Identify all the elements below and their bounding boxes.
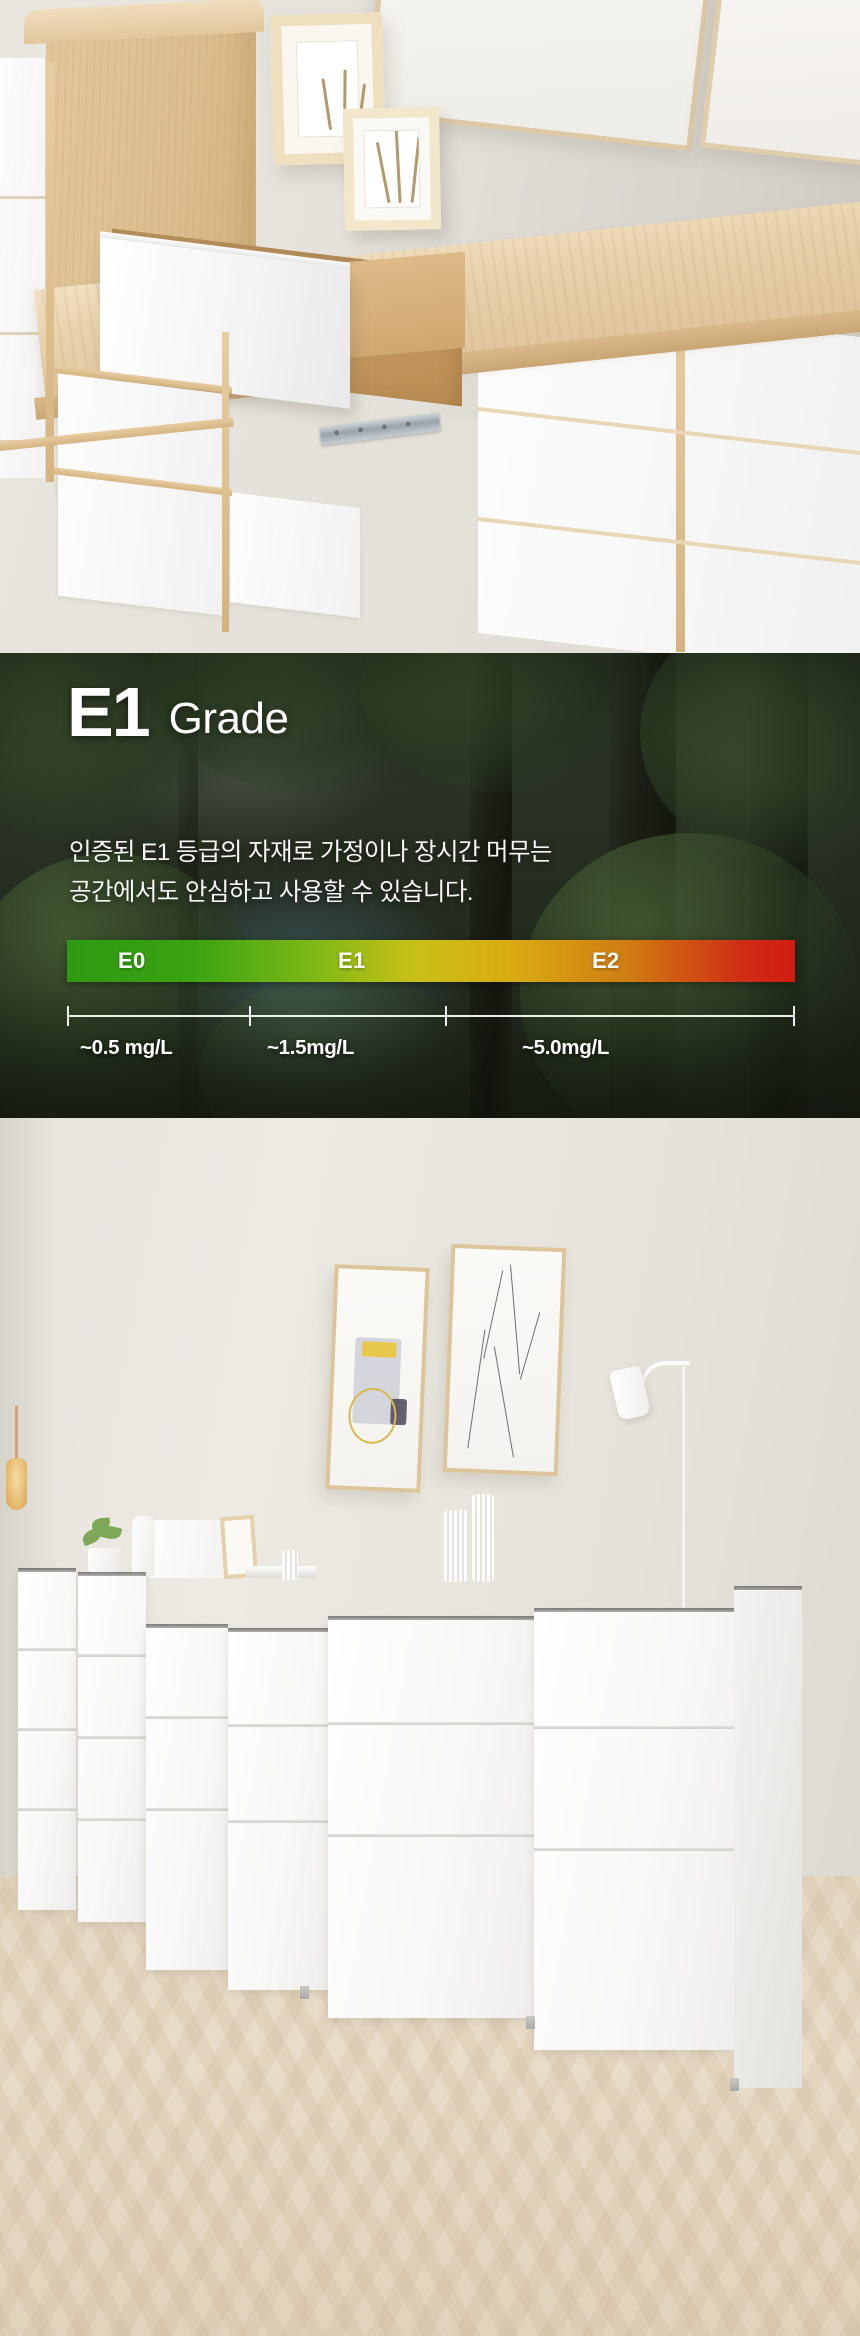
cabinet-unit [534,1610,734,2050]
dried-sprig [395,130,402,203]
dried-sprig [321,78,332,130]
white-drawer-front [58,476,228,617]
axis-line [67,1015,795,1017]
cabinet-drawer-seam [228,1820,328,1823]
grade-heading: E1 Grade [67,680,288,744]
scale-label-e2: E2 [592,948,620,974]
dried-sprig [376,142,391,203]
grade-heading-sub: Grade [169,697,289,744]
cabinet-wood-post [676,312,685,652]
product-photo-bottom [0,1118,860,2336]
axis-tick [67,1006,69,1026]
grade-description-line-2: 공간에서도 안심하고 사용할 수 있습니다. [69,873,689,913]
axis-label-e2-value: ~5.0mg/L [522,1036,609,1060]
cabinet-top-edge [18,1568,76,1572]
product-detail-page: E1 Grade 인증된 E1 등급의 자재로 가정이나 장시간 머무는 공간에… [0,0,860,2336]
cabinet-drawer-seam [18,1728,76,1731]
white-drawer-front [230,492,360,618]
cabinet-top-edge [328,1616,534,1620]
cabinet-drawer-seam [78,1654,146,1657]
emission-axis [67,1006,795,1030]
dried-sprig [411,137,421,203]
grade-description-line-1: 인증된 E1 등급의 자재로 가정이나 장시간 머무는 [69,833,689,873]
grade-heading-main: E1 [67,680,149,744]
frame-mat [363,130,420,209]
cabinet-drawer-seam [78,1736,146,1739]
cabinet-unit [228,1630,328,1990]
cabinet-drawer-seam [78,1818,146,1821]
emission-scale: E0 E1 E2 ~0.5 mg/L ~1.5mg/L ~5.0mg/L [67,940,795,1066]
cabinet-drawer-seam [146,1808,228,1811]
cabinet-side-panel [734,1588,802,2088]
cabinet-drawer-seam [18,1648,76,1651]
cabinet-unit [146,1626,228,1970]
axis-tick [445,1006,447,1026]
cabinet-top-edge [734,1586,802,1590]
cabinet-drawer-seam [328,1834,534,1837]
cabinet-foot [300,1986,309,1999]
axis-tick [249,1006,251,1026]
white-drawer-cabinets [0,1118,860,2336]
cabinet-foot [526,2016,535,2029]
scale-label-e1: E1 [338,948,366,974]
emission-axis-labels: ~0.5 mg/L ~1.5mg/L ~5.0mg/L [67,1036,795,1066]
cabinet-drawer-seam [328,1722,534,1725]
cabinet-top-edge [146,1624,228,1628]
cabinet-unit [328,1618,534,2018]
product-photo-top [0,0,860,653]
wall-art-frame-secondary [700,0,860,172]
cabinet-wood-post [222,332,229,632]
cabinet-top-edge [78,1572,146,1576]
cabinet-drawer-seam [534,1848,734,1851]
emission-gradient-bar: E0 E1 E2 [67,940,795,982]
grade-description: 인증된 E1 등급의 자재로 가정이나 장시간 머무는 공간에서도 안심하고 사… [69,833,689,912]
cabinet-drawer-seam [228,1724,328,1727]
axis-label-e1-value: ~1.5mg/L [267,1036,354,1060]
cabinet-drawer-seam [18,1808,76,1811]
cabinet-drawer-seam [146,1716,228,1719]
cabinet-top-edge [534,1608,734,1612]
axis-tick [793,1006,795,1026]
axis-label-e0-value: ~0.5 mg/L [80,1036,172,1060]
cabinet-top-edge [228,1628,328,1632]
e1-grade-banner: E1 Grade 인증된 E1 등급의 자재로 가정이나 장시간 머무는 공간에… [0,653,860,1118]
cabinet-unit [18,1570,76,1910]
cabinet-unit [78,1574,146,1922]
cabinet-drawer-seam [534,1726,734,1729]
scale-label-e0: E0 [118,948,146,974]
cabinet-seam [0,196,48,199]
cabinet-wood-post [46,62,54,482]
cabinet-foot [730,2078,739,2091]
standing-picture-frame-small [343,107,441,231]
